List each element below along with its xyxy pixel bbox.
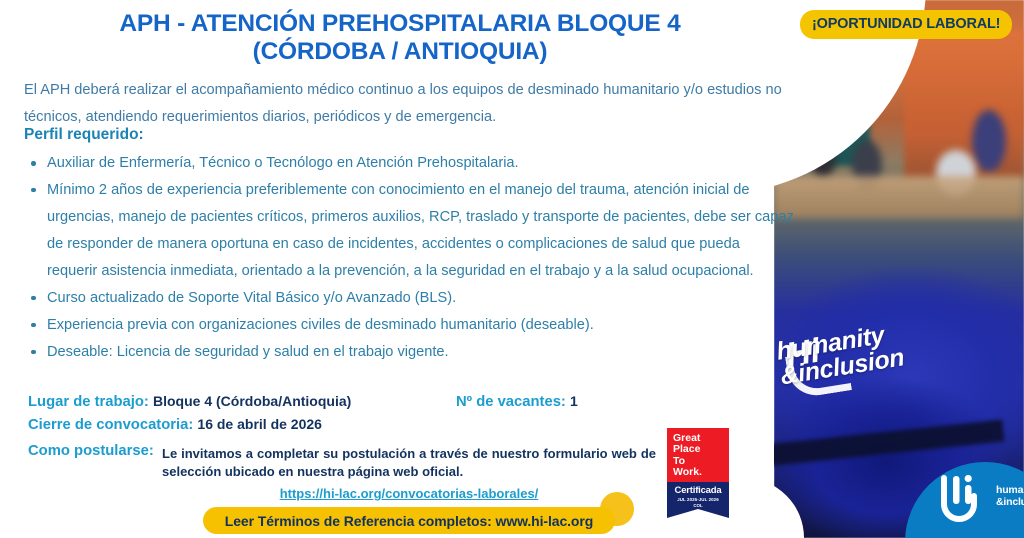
gptw-red-block: Great Place To Work.	[667, 428, 729, 482]
workplace-label: Lugar de trabajo:	[28, 394, 149, 410]
list-item: Experiencia previa con organizaciones ci…	[24, 312, 794, 339]
gptw-country: COL	[669, 503, 727, 508]
hi-logo-line-1: humanity	[996, 484, 1024, 496]
hi-hand-icon	[938, 474, 990, 522]
apply-label: Como postularse:	[28, 443, 154, 459]
workplace-row: Lugar de trabajo: Bloque 4 (Córdoba/Anti…	[28, 390, 628, 413]
apply-instructions: Le invitamos a completar su postulación …	[162, 445, 656, 503]
gptw-line-2: Place	[673, 444, 724, 455]
vacancies-label: Nº de vacantes:	[456, 394, 566, 410]
list-item: Mínimo 2 años de experiencia preferiblem…	[24, 177, 794, 285]
gptw-ribbon-notch	[667, 509, 729, 518]
deadline-label: Cierre de convocatoria:	[28, 417, 193, 433]
intro-paragraph: El APH deberá realizar el acompañamiento…	[24, 77, 810, 131]
deadline-value: 16 de abril de 2026	[197, 416, 322, 432]
workplace-value: Bloque 4 (Córdoba/Antioquia)	[153, 393, 351, 409]
profile-heading: Perfil requerido:	[24, 126, 144, 144]
list-item: Auxiliar de Enfermería, Técnico o Tecnól…	[24, 150, 794, 177]
hi-logo-text: humanity &inclusion	[996, 484, 1024, 509]
gptw-navy-block: Certificada JUL 2025-JUL 2026 COL	[667, 482, 729, 509]
list-item: Deseable: Licencia de seguridad y salud …	[24, 339, 794, 366]
opportunity-badge: ¡OPORTUNIDAD LABORAL!	[800, 10, 1012, 39]
vest-photo: Hi humanity &inclusion	[774, 0, 1024, 538]
page-title-line-1: APH - ATENCIÓN PREHOSPITALARIA BLOQUE 4	[40, 10, 760, 38]
gptw-dates: JUL 2025-JUL 2026	[669, 497, 727, 502]
key-facts: Lugar de trabajo: Bloque 4 (Córdoba/Anti…	[28, 390, 628, 436]
apply-link[interactable]: https://hi-lac.org/convocatorias-laboral…	[162, 485, 656, 503]
profile-requirements-list: Auxiliar de Enfermería, Técnico o Tecnól…	[24, 150, 794, 366]
job-posting-poster: Hi humanity &inclusion APH - ATENCIÓN PR…	[0, 0, 1024, 538]
page-title: APH - ATENCIÓN PREHOSPITALARIA BLOQUE 4 …	[40, 10, 760, 66]
gptw-line-4: Work.	[673, 467, 724, 478]
photo-floor	[774, 176, 1024, 218]
list-item: Curso actualizado de Soporte Vital Básic…	[24, 285, 794, 312]
vacancies-group: Nº de vacantes: 1	[456, 390, 578, 415]
read-terms-button[interactable]: Leer Términos de Referencia completos: w…	[203, 507, 615, 534]
great-place-to-work-badge: Great Place To Work. Certificada JUL 202…	[667, 428, 729, 518]
hi-logo-line-2: &inclusion	[996, 496, 1024, 508]
photo-figure	[972, 110, 1006, 172]
page-title-line-2: (CÓRDOBA / ANTIOQUIA)	[40, 38, 760, 66]
apply-text: Le invitamos a completar su postulación …	[162, 446, 656, 479]
vacancies-value: 1	[570, 393, 578, 409]
gptw-certified-label: Certificada	[669, 485, 727, 496]
deadline-row: Cierre de convocatoria: 16 de abril de 2…	[28, 413, 628, 436]
